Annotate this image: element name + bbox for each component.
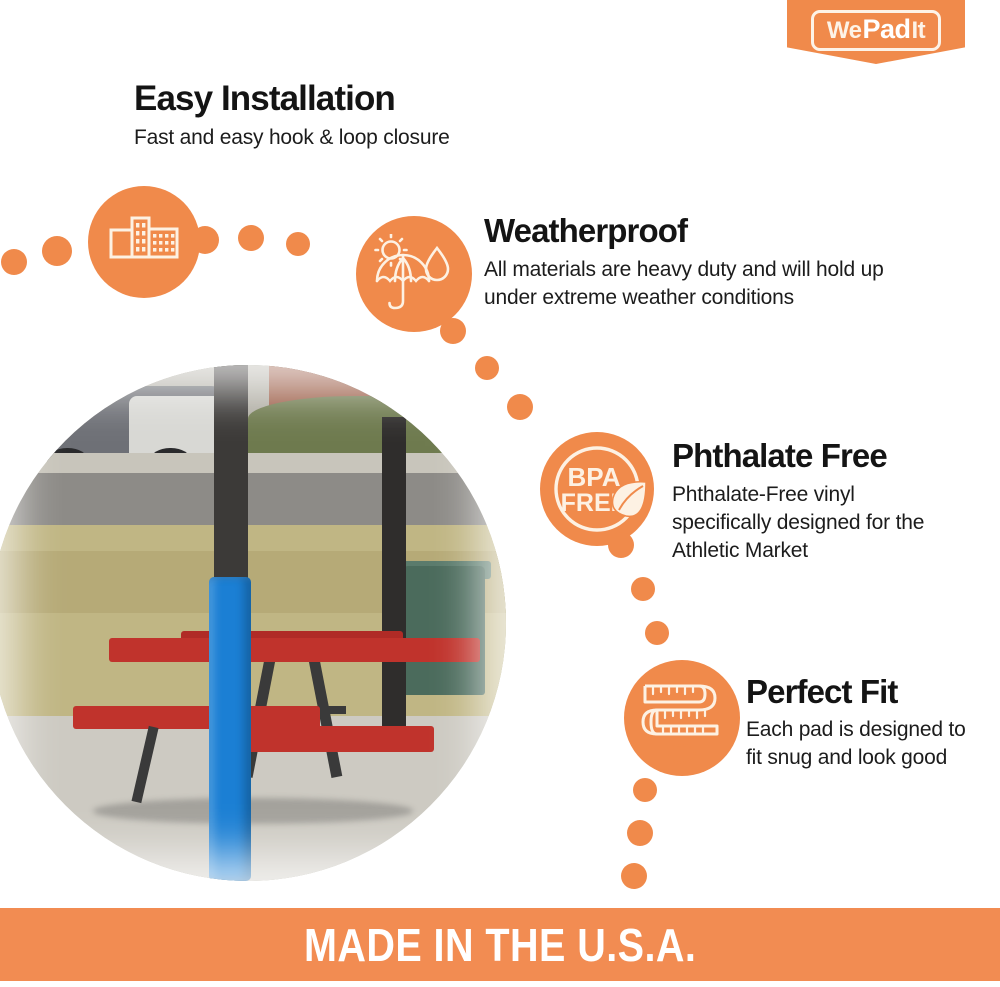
trail-dot [631,577,655,601]
bpa-icon-line1: BPA [568,462,621,492]
made-in-usa-banner: MADE IN THE U.S.A. [0,908,1000,981]
brand-logo[interactable]: We Pad It [787,0,965,64]
trail-dot [507,394,533,420]
feature-icon-weatherproof [356,216,472,332]
sun-umbrella-raindrop-icon [371,234,457,314]
feature-title-easy-installation: Easy Installation [134,79,395,119]
trail-dot [627,820,653,846]
feature-description-phthalate-free: Phthalate-Free vinyl specifically design… [672,481,952,565]
trail-dot [1,249,27,275]
feature-icon-perfect-fit [624,660,740,776]
trail-dot [475,356,499,380]
feature-title-phthalate-free: Phthalate Free [672,437,887,475]
trail-dot [286,232,310,256]
feature-icon-phthalate-free: BPA FREE [540,432,654,546]
bpa-free-leaf-icon: BPA FREE [540,432,654,546]
trail-dot [633,778,657,802]
trail-dot [238,225,264,251]
feature-title-perfect-fit: Perfect Fit [746,673,897,711]
feature-title-weatherproof: Weatherproof [484,212,687,250]
made-in-usa-text: MADE IN THE U.S.A. [304,918,696,972]
logo-text-we: We [827,19,862,43]
feature-icon-easy-installation [88,186,200,298]
trail-dot [440,318,466,344]
building-installation-icon [108,212,180,272]
trail-dot [191,226,219,254]
infographic-canvas: We Pad It Easy Installation Fast and eas… [0,0,1000,987]
logo-text-pad: Pad [861,16,911,43]
feature-description-easy-installation: Fast and easy hook & loop closure [134,124,554,152]
trail-dot [645,621,669,645]
feature-description-weatherproof: All materials are heavy duty and will ho… [484,256,914,312]
trail-dot [42,236,72,266]
photo-vignette [0,365,506,881]
trail-dot [608,532,634,558]
feature-description-perfect-fit: Each pad is designed to fit snug and loo… [746,716,986,772]
trail-dot [621,863,647,889]
logo-frame: We Pad It [811,10,941,51]
logo-text-it: It [911,19,925,43]
product-photo-scene [0,365,506,881]
product-photo [0,365,506,881]
measuring-tape-icon [637,672,727,764]
